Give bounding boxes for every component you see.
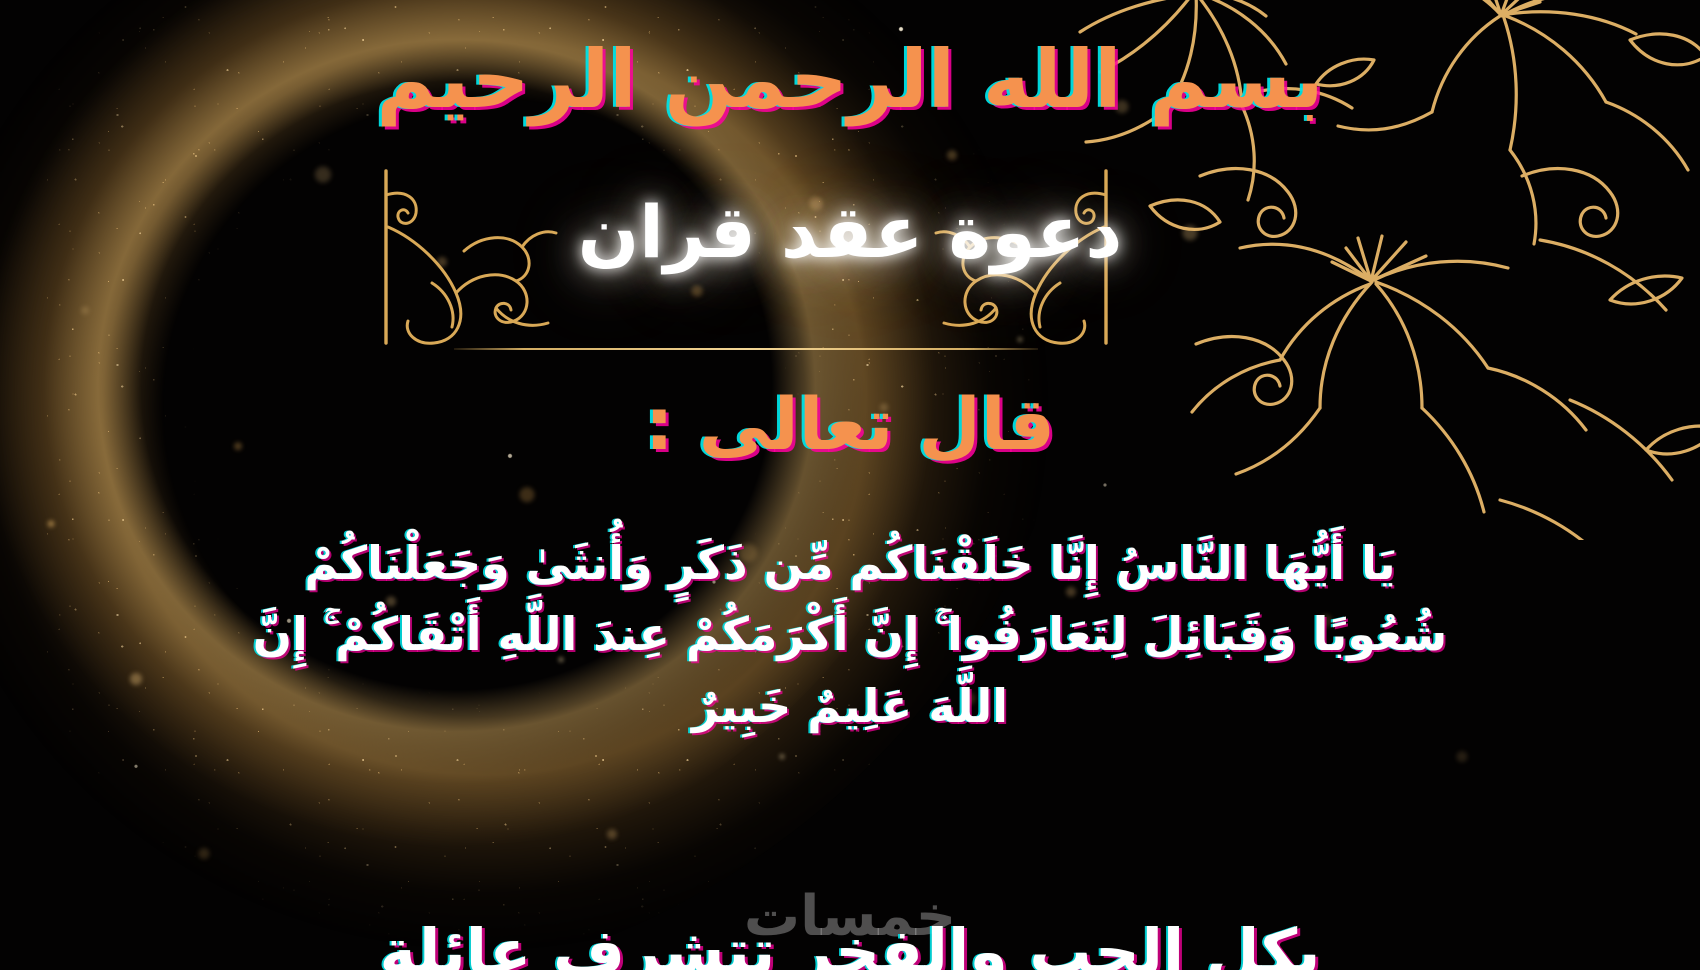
closing-line: بكل الحب والفخر تتشرف عائلة	[0, 915, 1700, 970]
frame-underline	[454, 348, 1038, 350]
invitation-card: بسم الله الرحمن الرحيم	[0, 0, 1700, 970]
verse-line: اللَّهَ عَلِيمٌ خَبِيرٌ	[130, 671, 1570, 742]
bismillah-heading: بسم الله الرحمن الرحيم	[0, 34, 1700, 126]
verse-line: يَا أَيُّهَا النَّاسُ إِنَّا خَلَقْنَاكُ…	[130, 528, 1570, 599]
quote-intro: قال تعالى :	[0, 382, 1700, 466]
invitation-subtitle: دعوة عقد قران	[0, 190, 1700, 274]
verse-line: شُعُوبًا وَقَبَائِلَ لِتَعَارَفُوا ۚ إِن…	[130, 599, 1570, 670]
content-layer: بسم الله الرحمن الرحيم	[0, 0, 1700, 970]
quran-verse: يَا أَيُّهَا النَّاسُ إِنَّا خَلَقْنَاكُ…	[130, 528, 1570, 742]
